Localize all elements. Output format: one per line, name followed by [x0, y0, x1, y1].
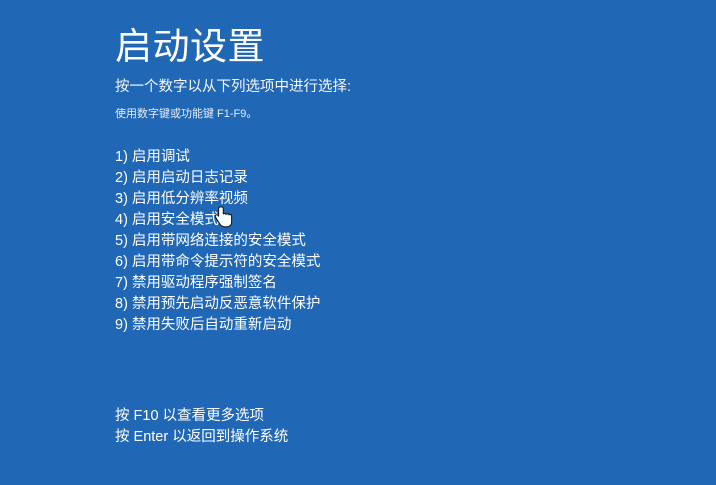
footer-instructions: 按 F10 以查看更多选项 按 Enter 以返回到操作系统: [115, 406, 675, 448]
footer-more-options: 按 F10 以查看更多选项: [115, 406, 675, 427]
keyboard-hint-text: 使用数字键或功能键 F1-F9。: [115, 107, 257, 121]
option-item-1[interactable]: 1) 启用调试: [115, 147, 675, 168]
startup-options-list: 1) 启用调试 2) 启用启动日志记录 3) 启用低分辨率视频 4) 启用安全模…: [115, 147, 675, 336]
option-item-9[interactable]: 9) 禁用失败后自动重新启动: [115, 315, 675, 336]
option-item-6[interactable]: 6) 启用带命令提示符的安全模式: [115, 252, 675, 273]
option-item-4[interactable]: 4) 启用安全模式: [115, 210, 675, 231]
option-item-3[interactable]: 3) 启用低分辨率视频: [115, 189, 675, 210]
footer-return-os: 按 Enter 以返回到操作系统: [115, 427, 675, 448]
page-title: 启动设置: [115, 25, 265, 69]
page-subtitle: 按一个数字以从下列选项中进行选择:: [115, 78, 351, 96]
option-item-8[interactable]: 8) 禁用预先启动反恶意软件保护: [115, 294, 675, 315]
option-item-5[interactable]: 5) 启用带网络连接的安全模式: [115, 231, 675, 252]
option-item-2[interactable]: 2) 启用启动日志记录: [115, 168, 675, 189]
content-column: 启动设置 按一个数字以从下列选项中进行选择: 使用数字键或功能键 F1-F9。 …: [115, 0, 675, 485]
startup-settings-screen: 启动设置 按一个数字以从下列选项中进行选择: 使用数字键或功能键 F1-F9。 …: [0, 0, 716, 485]
option-item-7[interactable]: 7) 禁用驱动程序强制签名: [115, 273, 675, 294]
